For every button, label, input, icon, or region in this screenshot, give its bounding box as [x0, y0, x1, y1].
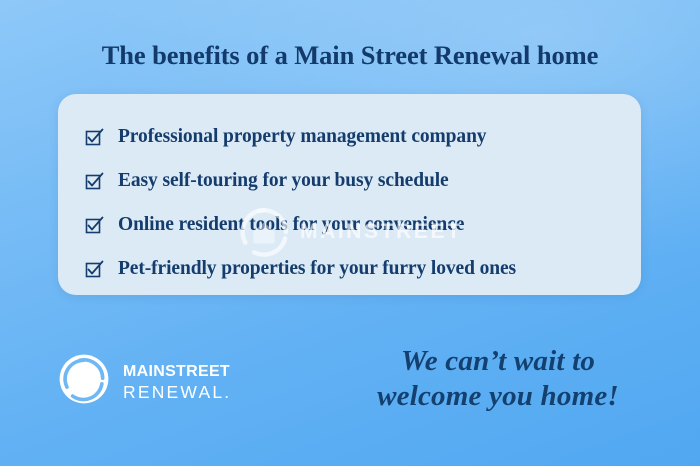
benefits-list: Professional property management company… — [58, 94, 641, 295]
list-item-label: Professional property management company — [118, 126, 486, 148]
tagline: We can’t wait to welcome you home! — [322, 344, 674, 414]
brand-logo: MainStreet RENEWAL. — [58, 353, 231, 405]
mainstreet-logo-mark — [58, 353, 110, 405]
list-item: Easy self-touring for your busy schedule — [84, 160, 641, 202]
brand-name: MainStreet — [123, 356, 231, 380]
list-item-label: Online resident tools for your convenien… — [118, 214, 464, 236]
list-item-label: Easy self-touring for your busy schedule — [118, 170, 449, 192]
brand-sub: RENEWAL. — [123, 382, 231, 402]
tagline-line-2: welcome you home! — [377, 380, 619, 412]
checkbox-checked-icon — [84, 259, 104, 279]
benefits-card: Professional property management company… — [58, 94, 641, 295]
checkbox-checked-icon — [84, 215, 104, 235]
list-item: Online resident tools for your convenien… — [84, 204, 641, 246]
list-item-label: Pet-friendly properties for your furry l… — [118, 258, 516, 280]
tagline-line-1: We can’t wait to — [401, 345, 595, 377]
list-item: Pet-friendly properties for your furry l… — [84, 248, 641, 290]
checkbox-checked-icon — [84, 127, 104, 147]
list-item: Professional property management company — [84, 116, 641, 158]
brand-wordmark: MainStreet RENEWAL. — [123, 356, 231, 402]
page-title: The benefits of a Main Street Renewal ho… — [0, 40, 700, 71]
checkbox-checked-icon — [84, 171, 104, 191]
promo-poster: The benefits of a Main Street Renewal ho… — [0, 0, 700, 466]
